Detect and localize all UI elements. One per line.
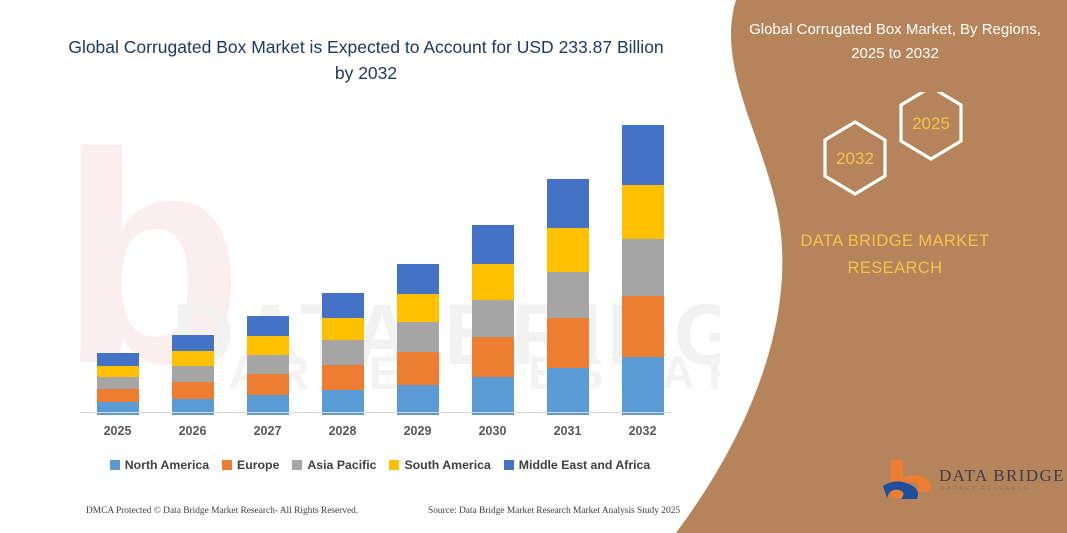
bar-segment-middle-east-and-africa-2031 [547,179,589,227]
bar-segment-north-america-2029 [397,385,439,416]
panel-brand-line2: RESEARCH [848,259,943,277]
legend-swatch-icon [504,460,514,470]
bar-segment-middle-east-and-africa-2027 [247,316,289,336]
bar-2025 [97,353,139,415]
bar-segment-middle-east-and-africa-2032 [622,125,664,185]
bar-2026 [172,335,214,415]
legend-label: North America [125,458,209,472]
x-axis-label-2025: 2025 [88,424,148,438]
bar-2031 [547,179,589,415]
bar-segment-asia-pacific-2028 [322,340,364,364]
plot-area [80,110,680,415]
bar-segment-europe-2031 [547,318,589,368]
chart-infographic: b DATA BRIDGE MARKET RESEARCH Global Cor… [0,0,1067,533]
bar-segment-middle-east-and-africa-2029 [397,264,439,295]
bar-2032 [622,125,664,415]
legend-label: Europe [237,458,279,472]
legend-label: Asia Pacific [307,458,376,472]
bar-segment-asia-pacific-2025 [97,377,139,389]
bar-segment-south-america-2029 [397,294,439,322]
bar-segment-south-america-2025 [97,366,139,378]
bar-segment-middle-east-and-africa-2025 [97,353,139,366]
bar-segment-europe-2029 [397,352,439,384]
bar-segment-north-america-2031 [547,368,589,415]
bar-segment-asia-pacific-2026 [172,366,214,382]
data-bridge-logo: DATA BRIDGE MARKET RESEARCH [881,458,1061,510]
footer-copyright: DMCA Protected © Data Bridge Market Rese… [86,506,358,516]
legend-item-south-america[interactable]: South America [389,458,490,472]
bar-2028 [322,293,364,415]
legend-swatch-icon [222,460,232,470]
bar-segment-north-america-2025 [97,402,139,415]
bar-segment-south-america-2026 [172,351,214,366]
footer: DMCA Protected © Data Bridge Market Rese… [0,506,700,524]
legend-swatch-icon [389,460,399,470]
logo-mark-icon [881,458,937,504]
bar-segment-south-america-2032 [622,185,664,240]
logo-text: DATA BRIDGE [939,466,1065,486]
bar-segment-south-america-2028 [322,318,364,341]
hexagon-2025-label: 2025 [896,114,966,134]
bar-segment-europe-2030 [472,337,514,377]
x-axis-label-2031: 2031 [538,424,598,438]
bar-segment-south-america-2031 [547,228,589,272]
x-axis-label-2026: 2026 [163,424,223,438]
bar-2029 [397,264,439,415]
legend-swatch-icon [292,460,302,470]
bar-segment-middle-east-and-africa-2030 [472,225,514,264]
bar-segment-north-america-2032 [622,357,664,415]
legend-item-middle-east-and-africa[interactable]: Middle East and Africa [504,458,650,472]
legend-label: Middle East and Africa [519,458,650,472]
chart-title-line1: Global Corrugated Box Market is Expected… [68,37,553,57]
legend-item-north-america[interactable]: North America [110,458,209,472]
bar-segment-europe-2027 [247,374,289,395]
panel-brand: DATA BRIDGE MARKET RESEARCH [743,228,1047,282]
bar-segment-europe-2028 [322,365,364,391]
bar-segment-asia-pacific-2032 [622,239,664,296]
bar-segment-north-america-2030 [472,377,514,415]
bar-segment-middle-east-and-africa-2026 [172,335,214,351]
bar-segment-asia-pacific-2027 [247,355,289,374]
hexagon-group: 2032 2025 [813,92,1013,202]
legend-item-asia-pacific[interactable]: Asia Pacific [292,458,376,472]
hexagon-outlines [813,92,1013,202]
hexagon-2032-label: 2032 [820,149,890,169]
x-axis-labels: 20252026202720282029203020312032 [80,424,680,444]
bar-segment-middle-east-and-africa-2028 [322,293,364,318]
bar-segment-asia-pacific-2029 [397,322,439,352]
legend-label: South America [404,458,490,472]
bar-segment-south-america-2027 [247,336,289,354]
legend-swatch-icon [110,460,120,470]
footer-source: Source: Data Bridge Market Research Mark… [428,506,680,516]
chart-legend: North AmericaEuropeAsia PacificSouth Ame… [80,456,680,474]
bar-segment-asia-pacific-2030 [472,300,514,337]
axis-baseline [80,412,672,413]
x-axis-label-2029: 2029 [388,424,448,438]
bar-segment-europe-2032 [622,296,664,357]
panel-title: Global Corrugated Box Market, By Regions… [733,18,1057,66]
panel-brand-line1: DATA BRIDGE MARKET [800,232,989,250]
x-axis-label-2027: 2027 [238,424,298,438]
bar-segment-europe-2025 [97,389,139,402]
bar-2030 [472,225,514,415]
bar-segment-asia-pacific-2031 [547,272,589,318]
legend-item-europe[interactable]: Europe [222,458,279,472]
x-axis-label-2028: 2028 [313,424,373,438]
x-axis-label-2032: 2032 [613,424,673,438]
bar-2027 [247,316,289,415]
x-axis-label-2030: 2030 [463,424,523,438]
right-panel: Global Corrugated Box Market, By Regions… [723,0,1067,533]
bar-segment-south-america-2030 [472,264,514,300]
bar-segment-europe-2026 [172,382,214,399]
panel-title-line1: Global Corrugated Box Market, By [749,21,977,38]
logo-subtext: MARKET RESEARCH [940,486,1030,492]
chart-title: Global Corrugated Box Market is Expected… [60,34,672,86]
